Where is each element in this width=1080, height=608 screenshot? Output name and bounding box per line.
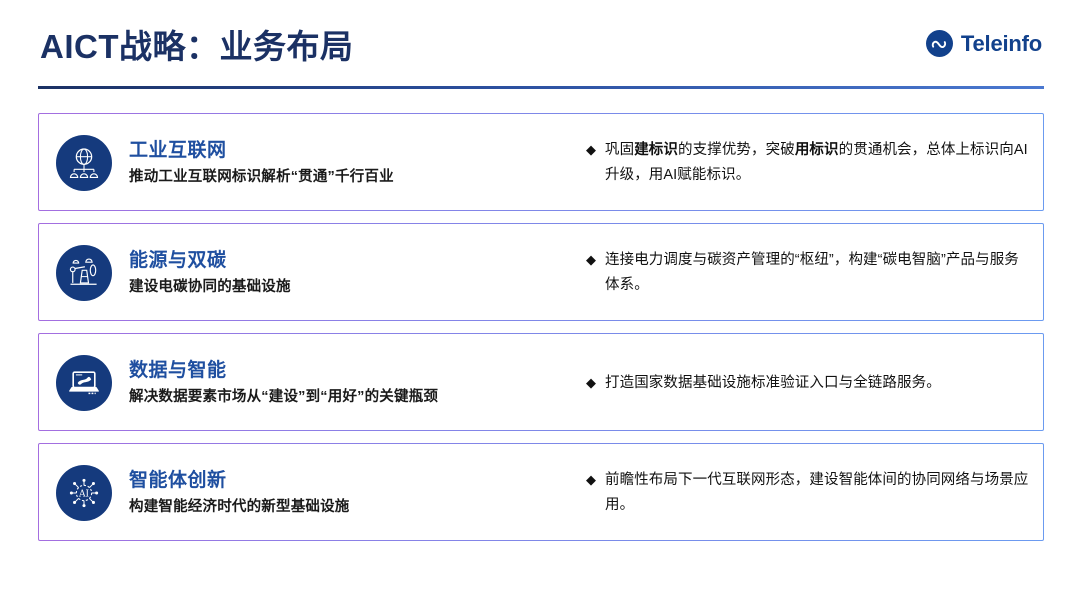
ai-agent-network-icon: AI	[56, 465, 112, 521]
bullet-row: ◆ 连接电力调度与碳资产管理的“枢纽”，构建“碳电智脑”产品与服务体系。	[584, 248, 1029, 298]
diamond-bullet-icon: ◆	[586, 248, 596, 272]
card-heading: 数据与智能	[129, 359, 438, 383]
card-text-block: 工业互联网 推动工业互联网标识解析“贯通”千行百业	[129, 139, 394, 188]
business-card-industrial-internet[interactable]: 工业互联网 推动工业互联网标识解析“贯通”千行百业 ◆ 巩固建标识的支撑优势，突…	[38, 113, 1044, 211]
card-subtitle: 建设电碳协同的基础设施	[129, 278, 291, 297]
title-underline-rule	[38, 86, 1044, 89]
bullet-text: 连接电力调度与碳资产管理的“枢纽”，构建“碳电智脑”产品与服务体系。	[605, 248, 1029, 298]
card-heading: 智能体创新	[129, 469, 350, 493]
slide-header: AICT战略：业务布局 Teleinfo	[0, 0, 1080, 92]
card-description: ◆ 前瞻性布局下一代互联网形态，建设智能体间的协同网络与场景应用。	[584, 444, 1045, 542]
laptop-data-icon	[56, 355, 112, 411]
page-title: AICT战略：业务布局	[40, 20, 354, 68]
card-subtitle: 解决数据要素市场从“建设”到“用好”的关键瓶颈	[129, 388, 438, 407]
card-identity: 能源与双碳 建设电碳协同的基础设施	[39, 224, 584, 322]
diamond-bullet-icon: ◆	[586, 138, 596, 162]
card-identity: 数据与智能 解决数据要素市场从“建设”到“用好”的关键瓶颈	[39, 334, 584, 432]
card-description: ◆ 连接电力调度与碳资产管理的“枢纽”，构建“碳电智脑”产品与服务体系。	[584, 224, 1045, 322]
card-subtitle: 推动工业互联网标识解析“贯通”千行百业	[129, 168, 394, 187]
diamond-bullet-icon: ◆	[586, 371, 596, 395]
card-heading: 工业互联网	[129, 139, 394, 163]
card-description: ◆ 巩固建标识的支撑优势，突破用标识的贯通机会，总体上标识向AI升级，用AI赋能…	[584, 114, 1045, 212]
globe-network-icon	[56, 135, 112, 191]
bullet-row: ◆ 巩固建标识的支撑优势，突破用标识的贯通机会，总体上标识向AI升级，用AI赋能…	[584, 138, 1029, 188]
bullet-row: ◆ 打造国家数据基础设施标准验证入口与全链路服务。	[584, 371, 941, 396]
diamond-bullet-icon: ◆	[586, 468, 596, 492]
bullet-text: 巩固建标识的支撑优势，突破用标识的贯通机会，总体上标识向AI升级，用AI赋能标识…	[605, 138, 1029, 188]
card-description: ◆ 打造国家数据基础设施标准验证入口与全链路服务。	[584, 334, 1045, 432]
brand-name: Teleinfo	[961, 31, 1042, 57]
bullet-text: 前瞻性布局下一代互联网形态，建设智能体间的协同网络与场景应用。	[605, 468, 1029, 518]
card-text-block: 能源与双碳 建设电碳协同的基础设施	[129, 249, 291, 298]
svg-text:AI: AI	[78, 490, 89, 500]
business-layout-card-list: 工业互联网 推动工业互联网标识解析“贯通”千行百业 ◆ 巩固建标识的支撑优势，突…	[38, 113, 1044, 591]
business-card-data-intelligence[interactable]: 数据与智能 解决数据要素市场从“建设”到“用好”的关键瓶颈 ◆ 打造国家数据基础…	[38, 333, 1044, 431]
brand-logo: Teleinfo	[926, 30, 1042, 57]
business-card-energy-dual-carbon[interactable]: 能源与双碳 建设电碳协同的基础设施 ◆ 连接电力调度与碳资产管理的“枢纽”，构建…	[38, 223, 1044, 321]
card-identity: AI	[39, 444, 584, 542]
bullet-row: ◆ 前瞻性布局下一代互联网形态，建设智能体间的协同网络与场景应用。	[584, 468, 1029, 518]
card-text-block: 智能体创新 构建智能经济时代的新型基础设施	[129, 469, 350, 518]
card-subtitle: 构建智能经济时代的新型基础设施	[129, 498, 350, 517]
card-text-block: 数据与智能 解决数据要素市场从“建设”到“用好”的关键瓶颈	[129, 359, 438, 408]
energy-pump-cloud-icon	[56, 245, 112, 301]
card-identity: 工业互联网 推动工业互联网标识解析“贯通”千行百业	[39, 114, 584, 212]
teleinfo-infinity-logo-icon	[926, 30, 953, 57]
bullet-text: 打造国家数据基础设施标准验证入口与全链路服务。	[605, 371, 941, 396]
business-card-agent-innovation[interactable]: AI	[38, 443, 1044, 541]
card-heading: 能源与双碳	[129, 249, 291, 273]
